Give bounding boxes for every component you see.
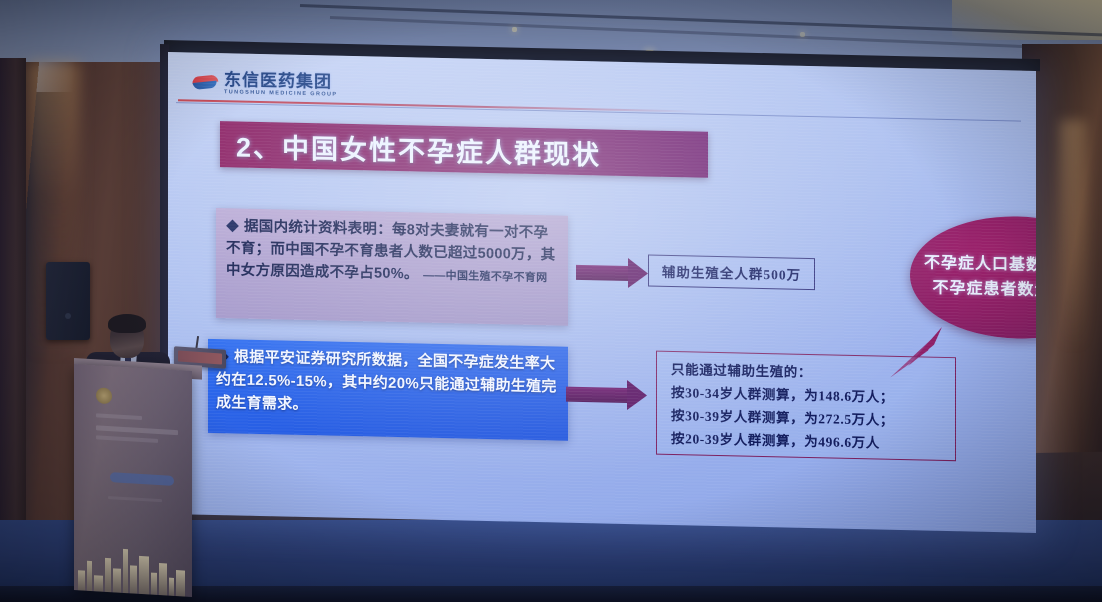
diamond-bullet-icon [226,220,239,233]
conference-photo: 东信医药集团 TUNGSHUN MEDICINE GROUP 2、中国女性不孕症… [0,0,1102,602]
statement-card-1-source: ——中国生殖不孕不育网 [423,270,547,285]
ceiling-light-icon [800,32,805,37]
presenter-hair [108,314,146,333]
highlight-box-population: 辅助生殖全人群500万 [648,254,815,290]
callout-bubble: 不孕症人口基数大、女性不孕症患者数量庞大！ [910,214,1036,341]
statement-card-2-text: 根据平安证券研究所数据，全国不孕症发生率大约在12.5%-15%，其中约20%只… [216,348,557,413]
lectern-text-line [96,435,158,443]
header-rule-blue [176,102,1021,121]
slide-title-band: 2、中国女性不孕症人群现状 [220,121,708,178]
stats-box: 只能通过辅助生殖的： 按30-34岁人群测算，为148.6万人； 按30-39岁… [656,351,956,462]
arrow-right-icon [566,379,648,412]
ceiling-light-icon [512,27,517,32]
logo-text-en: TUNGSHUN MEDICINE GROUP [224,90,337,98]
skyline-graphic [74,538,192,597]
swoosh-logo-icon [192,74,218,93]
company-logo: 东信医药集团 TUNGSHUN MEDICINE GROUP [192,71,337,99]
lectern-text-line [96,425,178,435]
lectern [74,364,192,597]
lectern-text-line [96,413,142,420]
lectern-text-line [108,496,162,502]
callout-bubble-text: 不孕症人口基数大、女性不孕症患者数量庞大！ [910,250,1036,305]
presentation-slide: 东信医药集团 TUNGSHUN MEDICINE GROUP 2、中国女性不孕症… [168,52,1036,533]
page-title: 2、中国女性不孕症人群现状 [236,125,601,172]
wall-left-edge [0,58,26,538]
highlight-box-population-text: 辅助生殖全人群500万 [662,261,801,284]
lectern-badge [110,472,174,486]
wall-light-reflection [1060,120,1086,350]
statement-card-1: 据国内统计资料表明：每8对夫妻就有一对不孕不育；而中国不孕不育患者人数已超过50… [216,208,568,326]
stats-box-line: 按20-39岁人群测算，为496.6万人 [671,427,955,456]
logo-text-cn: 东信医药集团 [224,71,337,90]
arrow-right-icon [576,257,648,290]
header-rule-red [178,99,698,112]
statement-card-2: 根据平安证券研究所数据，全国不孕症发生率大约在12.5%-15%，其中约20%只… [208,339,568,441]
projection-screen: 东信医药集团 TUNGSHUN MEDICINE GROUP 2、中国女性不孕症… [168,52,1036,533]
loudspeaker-icon [46,262,90,340]
lectern-emblem-icon [96,387,112,404]
